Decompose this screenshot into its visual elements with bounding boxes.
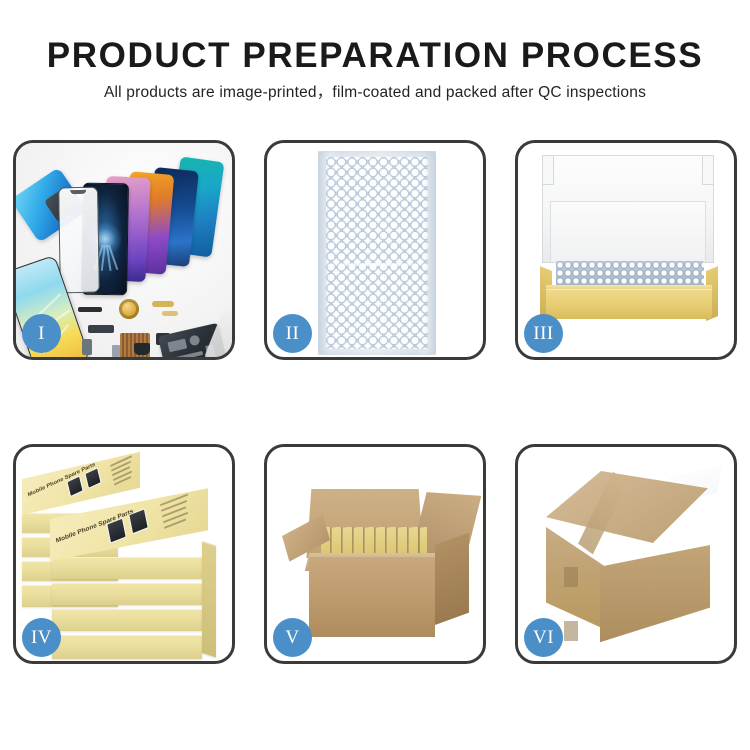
step-badge-3: III — [524, 314, 563, 353]
speaker-part — [78, 307, 102, 312]
stacked-box-front-4 — [52, 557, 202, 579]
bubble-wrap-edge-left — [318, 151, 330, 355]
carton-front-face — [309, 557, 435, 637]
page-title: PRODUCT PREPARATION PROCESS — [0, 36, 750, 76]
step-panel-1: I — [13, 140, 235, 360]
box-front-panel — [546, 289, 712, 319]
step-panel-2: II — [264, 140, 486, 360]
connector-part-a — [88, 325, 114, 333]
process-steps-grid: I II — [13, 140, 737, 664]
step-badge-1: I — [22, 314, 61, 353]
tempered-glass-protector — [58, 187, 100, 294]
box-artwork-screen-4 — [128, 508, 149, 534]
sealed-shipping-carton — [538, 465, 726, 649]
bubble-wrap-bubbles — [326, 157, 428, 349]
stacked-box-front-3 — [52, 583, 202, 605]
stack-side-face — [202, 541, 216, 658]
product-preparation-infographic: PRODUCT PREPARATION PROCESS All products… — [0, 0, 750, 750]
foam-padding — [550, 201, 706, 263]
step-panel-3: III — [515, 140, 737, 360]
vibration-motor-part — [119, 299, 139, 319]
bubble-wrap-seam — [326, 263, 428, 266]
bubble-wrap-edge-right — [424, 151, 436, 355]
step-badge-5: V — [273, 618, 312, 657]
step-badge-6: VI — [524, 618, 563, 657]
carton-seal-mark-top — [564, 567, 578, 587]
open-shipping-carton — [285, 471, 471, 649]
step-panel-5: V — [264, 444, 486, 664]
step-panel-4: Mobile Phone Spare Parts — [13, 444, 235, 664]
carton-right-face — [600, 545, 710, 653]
step-panel-6: VI — [515, 444, 737, 664]
stacked-box-front-2 — [52, 609, 202, 631]
box-artwork-screen-3 — [106, 517, 127, 543]
header: PRODUCT PREPARATION PROCESS All products… — [0, 0, 750, 103]
step-badge-2: II — [273, 314, 312, 353]
bubble-wrap-sheet — [318, 151, 436, 355]
stacked-box-front-1 — [52, 635, 202, 659]
flex-cable-part-a — [152, 301, 174, 307]
connector-part-b — [82, 339, 92, 355]
flex-cable-part-b — [162, 311, 178, 316]
sim-tray-part — [112, 345, 120, 357]
battery-connector-part — [134, 343, 150, 355]
page-subtitle: All products are image-printed，film-coat… — [0, 83, 750, 103]
carton-side-face — [435, 533, 469, 625]
carton-seal-mark-bottom — [564, 621, 578, 641]
step-badge-4: IV — [22, 618, 61, 657]
